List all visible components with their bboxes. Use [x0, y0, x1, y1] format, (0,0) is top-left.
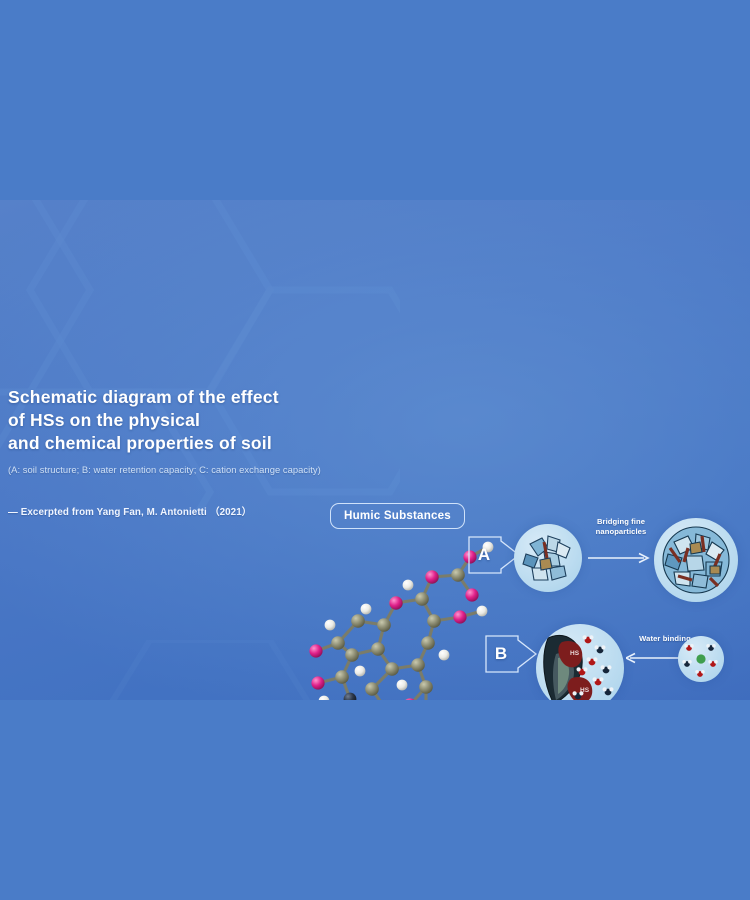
text-block: Schematic diagram of the effect of HSs o… — [8, 386, 348, 518]
marker-a-letter: A — [467, 535, 501, 575]
poster-canvas: Schematic diagram of the effect of HSs o… — [0, 0, 750, 900]
marker-b: B — [484, 634, 538, 674]
circle-a-before — [514, 524, 582, 592]
legend-note: (A: soil structure; B: water retention c… — [8, 464, 348, 475]
svg-text:HS: HS — [570, 650, 580, 657]
title-line-3: and chemical properties of soil — [8, 432, 348, 455]
bottom-band — [0, 700, 750, 900]
top-band — [0, 0, 750, 200]
circle-a-after — [654, 518, 738, 602]
flow-label-a-line2: nanoparticles — [586, 527, 656, 537]
flow-label-a: Bridging fine nanoparticles — [586, 517, 656, 537]
title-line-1: Schematic diagram of the effect — [8, 386, 348, 409]
arrow-left-b-icon — [626, 652, 680, 664]
marker-b-letter: B — [484, 634, 518, 674]
flow-label-a-line1: Bridging fine — [586, 517, 656, 527]
title-line-2: of HSs on the physical — [8, 409, 348, 432]
page-title: Schematic diagram of the effect of HSs o… — [8, 386, 348, 455]
arrow-right-a-icon — [588, 552, 652, 564]
source-credit: — Excerpted from Yang Fan, M. Antonietti… — [8, 504, 348, 518]
circle-b-water-cluster — [678, 636, 724, 682]
marker-a: A — [467, 535, 521, 575]
illustration-panel: Schematic diagram of the effect of HSs o… — [0, 200, 750, 700]
circle-b-main: HS HS — [536, 624, 624, 700]
